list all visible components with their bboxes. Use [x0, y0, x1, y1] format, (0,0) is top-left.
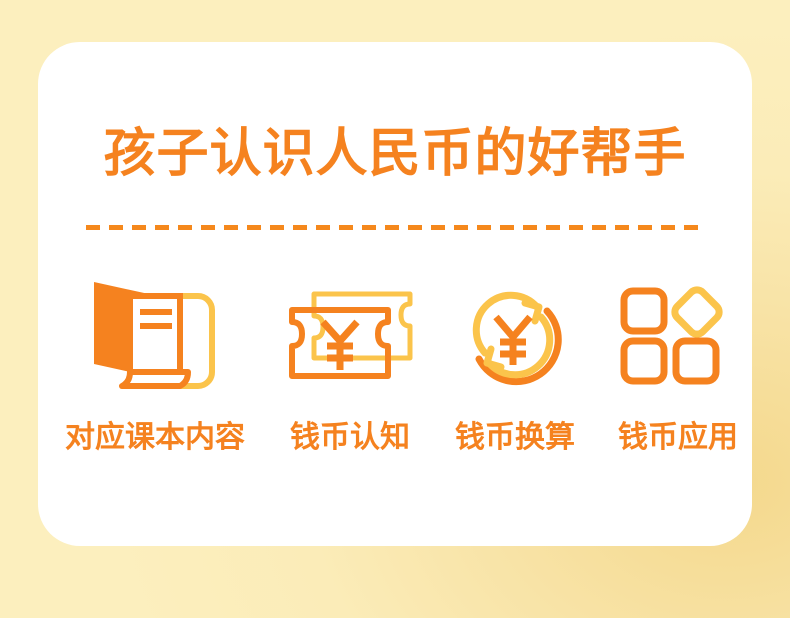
- grid-shapes-icon: [596, 270, 752, 400]
- feature-item-money-application[interactable]: 钱币应用: [596, 270, 752, 485]
- feature-label: 钱币应用: [596, 418, 752, 458]
- page-title: 孩子认识人民币的好帮手: [38, 124, 752, 184]
- open-book-icon: [38, 270, 270, 400]
- feature-item-textbook[interactable]: 对应课本内容: [38, 270, 270, 485]
- feature-item-money-recognition[interactable]: 钱币认知: [270, 270, 430, 485]
- feature-label: 钱币换算: [430, 418, 596, 458]
- feature-card: 孩子认识人民币的好帮手: [38, 42, 752, 546]
- currency-exchange-yuan-icon: [430, 270, 596, 400]
- dashed-divider: [86, 225, 704, 230]
- feature-item-money-conversion[interactable]: 钱币换算: [430, 270, 596, 485]
- page-root: 孩子认识人民币的好帮手: [0, 0, 790, 618]
- feature-label: 钱币认知: [270, 418, 430, 458]
- banknotes-yuan-icon: [270, 270, 430, 400]
- feature-label: 对应课本内容: [38, 418, 270, 458]
- feature-list: 对应课本内容: [38, 270, 752, 485]
